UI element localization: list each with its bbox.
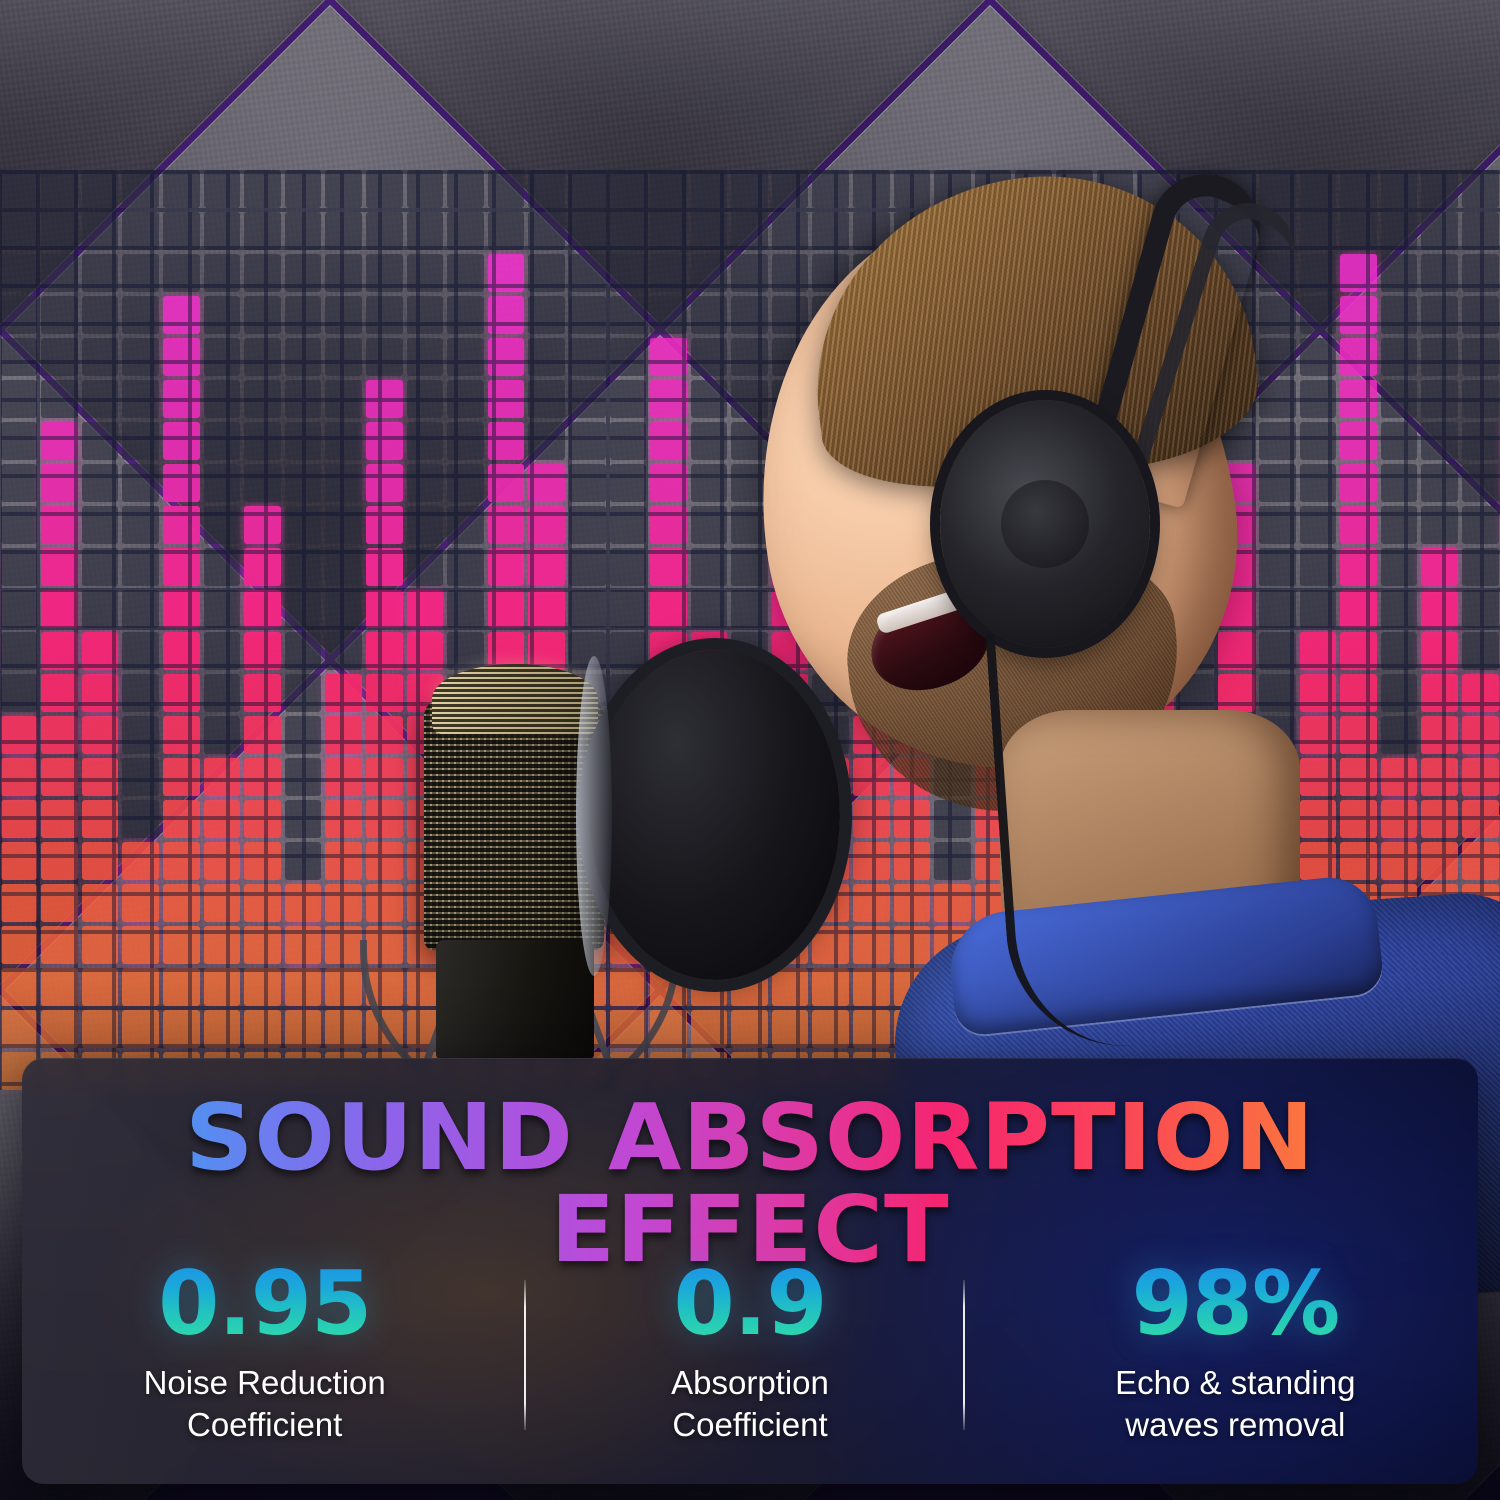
- equalizer-cell: [610, 212, 647, 250]
- equalizer-cell: [82, 464, 119, 502]
- equalizer-cell: [447, 464, 484, 502]
- equalizer-cell: [163, 674, 200, 712]
- equalizer-cell: [610, 506, 647, 544]
- equalizer-cell: [610, 590, 647, 628]
- equalizer-cell: [244, 506, 281, 544]
- pop-filter: [590, 650, 840, 980]
- equalizer-cell: [325, 212, 362, 250]
- equalizer-cell: [163, 212, 200, 250]
- headline-sound-absorption-effect: SOUND ABSORPTION EFFECT: [22, 1092, 1478, 1276]
- stat-caption-line2: waves removal: [1125, 1406, 1345, 1443]
- equalizer-cell: [163, 1010, 200, 1048]
- equalizer-cell: [488, 296, 525, 334]
- equalizer-cell: [610, 464, 647, 502]
- equalizer-cell: [244, 296, 281, 334]
- equalizer-cell: [82, 800, 119, 838]
- equalizer-cell: [407, 296, 444, 334]
- equalizer-cell: [285, 338, 322, 376]
- equalizer-cell: [285, 296, 322, 334]
- equalizer-cell: [244, 548, 281, 586]
- equalizer-cell: [244, 800, 281, 838]
- equalizer-cell: [1, 464, 38, 502]
- equalizer-cell: [650, 170, 687, 208]
- equalizer-cell: [122, 380, 159, 418]
- stat-echo-waves-removal: 98% Echo & standing waves removal: [993, 1258, 1478, 1447]
- equalizer-cell: [285, 212, 322, 250]
- equalizer-cell: [407, 170, 444, 208]
- equalizer-cell: [528, 548, 565, 586]
- equalizer-cell: [650, 548, 687, 586]
- product-marketing-image: SOUND ABSORPTION EFFECT 0.95 Noise Reduc…: [0, 0, 1500, 1500]
- equalizer-cell: [163, 464, 200, 502]
- equalizer-cell: [122, 884, 159, 922]
- equalizer-cell: [163, 632, 200, 670]
- equalizer-cell: [366, 170, 403, 208]
- stat-caption: Absorption Coefficient: [507, 1362, 992, 1448]
- equalizer-cell: [285, 464, 322, 502]
- equalizer-cell: [204, 548, 241, 586]
- equalizer-cell: [41, 338, 78, 376]
- equalizer-cell: [41, 926, 78, 964]
- equalizer-cell: [122, 506, 159, 544]
- equalizer-column: [163, 170, 200, 1090]
- equalizer-cell: [204, 296, 241, 334]
- equalizer-cell: [41, 716, 78, 754]
- equalizer-cell: [285, 422, 322, 460]
- equalizer-cell: [569, 338, 606, 376]
- equalizer-cell: [610, 338, 647, 376]
- equalizer-cell: [650, 506, 687, 544]
- equalizer-cell: [407, 254, 444, 292]
- equalizer-cell: [1, 926, 38, 964]
- equalizer-cell: [285, 590, 322, 628]
- equalizer-cell: [163, 170, 200, 208]
- equalizer-cell: [122, 548, 159, 586]
- equalizer-cell: [407, 464, 444, 502]
- equalizer-cell: [122, 464, 159, 502]
- equalizer-cell: [82, 632, 119, 670]
- equalizer-cell: [569, 506, 606, 544]
- equalizer-cell: [407, 548, 444, 586]
- equalizer-cell: [366, 464, 403, 502]
- equalizer-cell: [204, 716, 241, 754]
- equalizer-cell: [447, 590, 484, 628]
- equalizer-cell: [447, 212, 484, 250]
- stat-divider-right: [963, 1280, 965, 1430]
- equalizer-cell: [488, 422, 525, 460]
- equalizer-cell: [447, 296, 484, 334]
- equalizer-column: [82, 170, 119, 1090]
- equalizer-cell: [163, 842, 200, 880]
- equalizer-cell: [610, 548, 647, 586]
- equalizer-cell: [244, 632, 281, 670]
- equalizer-column: [204, 170, 241, 1090]
- equalizer-cell: [82, 338, 119, 376]
- stat-caption: Echo & standing waves removal: [993, 1362, 1478, 1448]
- equalizer-cell: [447, 548, 484, 586]
- equalizer-cell: [122, 842, 159, 880]
- equalizer-cell: [1, 506, 38, 544]
- equalizer-cell: [204, 422, 241, 460]
- equalizer-cell: [41, 380, 78, 418]
- equalizer-cell: [488, 548, 525, 586]
- equalizer-cell: [41, 632, 78, 670]
- equalizer-cell: [650, 254, 687, 292]
- equalizer-cell: [82, 590, 119, 628]
- equalizer-cell: [610, 380, 647, 418]
- equalizer-cell: [82, 674, 119, 712]
- equalizer-cell: [569, 170, 606, 208]
- equalizer-cell: [163, 926, 200, 964]
- equalizer-cell: [488, 464, 525, 502]
- equalizer-column: [41, 170, 78, 1090]
- equalizer-cell: [488, 338, 525, 376]
- equalizer-cell: [82, 716, 119, 754]
- equalizer-cell: [1, 842, 38, 880]
- equalizer-cell: [82, 506, 119, 544]
- equalizer-cell: [1, 716, 38, 754]
- equalizer-cell: [244, 590, 281, 628]
- equalizer-cell: [122, 254, 159, 292]
- equalizer-cell: [1, 968, 38, 1006]
- equalizer-cell: [204, 674, 241, 712]
- equalizer-cell: [285, 170, 322, 208]
- equalizer-cell: [82, 884, 119, 922]
- equalizer-cell: [163, 968, 200, 1006]
- equalizer-cell: [122, 968, 159, 1006]
- equalizer-cell: [366, 338, 403, 376]
- headphone-earcup: [940, 400, 1150, 648]
- equalizer-cell: [41, 506, 78, 544]
- equalizer-cell: [41, 422, 78, 460]
- equalizer-cell: [366, 422, 403, 460]
- equalizer-cell: [41, 800, 78, 838]
- equalizer-cell: [528, 590, 565, 628]
- equalizer-cell: [325, 254, 362, 292]
- equalizer-cell: [407, 422, 444, 460]
- equalizer-cell: [122, 674, 159, 712]
- equalizer-cell: [1, 884, 38, 922]
- stat-caption-line2: Coefficient: [672, 1406, 827, 1443]
- equalizer-cell: [41, 296, 78, 334]
- equalizer-cell: [204, 842, 241, 880]
- equalizer-cell: [163, 338, 200, 376]
- equalizer-cell: [163, 548, 200, 586]
- equalizer-cell: [244, 674, 281, 712]
- equalizer-cell: [204, 254, 241, 292]
- equalizer-cell: [41, 590, 78, 628]
- equalizer-cell: [244, 422, 281, 460]
- stat-absorption-coefficient: 0.9 Absorption Coefficient: [507, 1258, 992, 1447]
- equalizer-cell: [204, 968, 241, 1006]
- equalizer-cell: [82, 548, 119, 586]
- equalizer-cell: [407, 506, 444, 544]
- equalizer-cell: [569, 212, 606, 250]
- equalizer-cell: [244, 212, 281, 250]
- equalizer-cell: [244, 170, 281, 208]
- stats-row: 0.95 Noise Reduction Coefficient 0.9 Abs…: [22, 1258, 1478, 1468]
- equalizer-cell: [285, 926, 322, 964]
- equalizer-cell: [41, 254, 78, 292]
- equalizer-cell: [204, 590, 241, 628]
- equalizer-cell: [1, 632, 38, 670]
- equalizer-cell: [610, 254, 647, 292]
- equalizer-cell: [285, 968, 322, 1006]
- equalizer-cell: [163, 800, 200, 838]
- equalizer-cell: [285, 674, 322, 712]
- equalizer-cell: [407, 380, 444, 418]
- equalizer-cell: [488, 506, 525, 544]
- equalizer-cell: [366, 254, 403, 292]
- stat-caption-line1: Echo & standing: [1115, 1364, 1355, 1401]
- equalizer-cell: [366, 506, 403, 544]
- equalizer-cell: [325, 338, 362, 376]
- equalizer-cell: [122, 758, 159, 796]
- equalizer-cell: [244, 254, 281, 292]
- equalizer-cell: [1, 674, 38, 712]
- equalizer-cell: [1, 422, 38, 460]
- equalizer-cell: [285, 380, 322, 418]
- equalizer-cell: [366, 548, 403, 586]
- equalizer-cell: [447, 380, 484, 418]
- equalizer-cell: [204, 380, 241, 418]
- equalizer-cell: [163, 254, 200, 292]
- equalizer-cell: [528, 170, 565, 208]
- equalizer-cell: [122, 422, 159, 460]
- equalizer-cell: [569, 422, 606, 460]
- equalizer-cell: [82, 296, 119, 334]
- equalizer-cell: [285, 842, 322, 880]
- equalizer-cell: [122, 170, 159, 208]
- equalizer-cell: [41, 170, 78, 208]
- equalizer-cell: [528, 338, 565, 376]
- equalizer-cell: [325, 380, 362, 418]
- equalizer-cell: [204, 632, 241, 670]
- equalizer-cell: [285, 758, 322, 796]
- equalizer-cell: [650, 590, 687, 628]
- stat-noise-reduction-coefficient: 0.95 Noise Reduction Coefficient: [22, 1258, 507, 1447]
- equalizer-cell: [488, 380, 525, 418]
- equalizer-cell: [407, 338, 444, 376]
- equalizer-cell: [285, 548, 322, 586]
- equalizer-cell: [82, 170, 119, 208]
- equalizer-cell: [41, 842, 78, 880]
- stat-value: 0.9: [507, 1258, 992, 1350]
- equalizer-cell: [285, 632, 322, 670]
- equalizer-cell: [285, 884, 322, 922]
- equalizer-cell: [244, 380, 281, 418]
- equalizer-cell: [244, 338, 281, 376]
- equalizer-cell: [244, 716, 281, 754]
- equalizer-cell: [122, 338, 159, 376]
- equalizer-cell: [528, 296, 565, 334]
- equalizer-cell: [447, 338, 484, 376]
- equalizer-cell: [204, 506, 241, 544]
- equalizer-cell: [244, 968, 281, 1006]
- equalizer-cell: [447, 422, 484, 460]
- equalizer-cell: [407, 590, 444, 628]
- equalizer-cell: [569, 296, 606, 334]
- equalizer-cell: [569, 590, 606, 628]
- equalizer-cell: [1, 548, 38, 586]
- equalizer-column: [1, 170, 38, 1090]
- equalizer-cell: [610, 296, 647, 334]
- equalizer-cell: [528, 422, 565, 460]
- equalizer-cell: [488, 590, 525, 628]
- equalizer-cell: [528, 380, 565, 418]
- equalizer-cell: [163, 590, 200, 628]
- equalizer-cell: [41, 1010, 78, 1048]
- stat-caption-line1: Noise Reduction: [144, 1364, 386, 1401]
- equalizer-cell: [1, 212, 38, 250]
- equalizer-cell: [325, 506, 362, 544]
- equalizer-cell: [204, 758, 241, 796]
- equalizer-cell: [82, 1010, 119, 1048]
- microphone-capsule-grille: [432, 664, 598, 734]
- equalizer-cell: [1, 1010, 38, 1048]
- equalizer-column: [285, 170, 322, 1090]
- equalizer-cell: [82, 380, 119, 418]
- stat-caption: Noise Reduction Coefficient: [22, 1362, 507, 1448]
- equalizer-cell: [569, 254, 606, 292]
- equalizer-cell: [244, 1010, 281, 1048]
- equalizer-cell: [325, 590, 362, 628]
- equalizer-cell: [204, 884, 241, 922]
- equalizer-cell: [325, 422, 362, 460]
- equalizer-cell: [163, 758, 200, 796]
- equalizer-cell: [610, 422, 647, 460]
- equalizer-cell: [163, 506, 200, 544]
- equalizer-cell: [528, 212, 565, 250]
- equalizer-cell: [204, 170, 241, 208]
- equalizer-cell: [447, 254, 484, 292]
- equalizer-cell: [41, 674, 78, 712]
- equalizer-cell: [447, 170, 484, 208]
- equalizer-cell: [285, 1010, 322, 1048]
- stat-value: 98%: [993, 1258, 1478, 1350]
- equalizer-cell: [41, 758, 78, 796]
- equalizer-cell: [1, 170, 38, 208]
- equalizer-cell: [285, 506, 322, 544]
- equalizer-cell: [325, 170, 362, 208]
- stat-value: 0.95: [22, 1258, 507, 1350]
- equalizer-cell: [122, 632, 159, 670]
- equalizer-cell: [285, 716, 322, 754]
- equalizer-cell: [1, 296, 38, 334]
- equalizer-cell: [488, 212, 525, 250]
- microphone-assembly: [320, 640, 880, 1120]
- equalizer-cell: [1, 254, 38, 292]
- equalizer-cell: [163, 884, 200, 922]
- equalizer-cell: [82, 758, 119, 796]
- equalizer-cell: [163, 296, 200, 334]
- equalizer-cell: [488, 170, 525, 208]
- equalizer-cell: [82, 842, 119, 880]
- equalizer-cell: [122, 1010, 159, 1048]
- equalizer-cell: [163, 716, 200, 754]
- equalizer-cell: [569, 464, 606, 502]
- equalizer-cell: [325, 464, 362, 502]
- stat-caption-line2: Coefficient: [187, 1406, 342, 1443]
- equalizer-cell: [650, 296, 687, 334]
- equalizer-cell: [41, 464, 78, 502]
- equalizer-cell: [447, 506, 484, 544]
- equalizer-cell: [204, 926, 241, 964]
- equalizer-cell: [82, 254, 119, 292]
- equalizer-cell: [650, 338, 687, 376]
- equalizer-cell: [1, 338, 38, 376]
- equalizer-cell: [569, 380, 606, 418]
- equalizer-cell: [163, 380, 200, 418]
- equalizer-cell: [122, 590, 159, 628]
- equalizer-cell: [528, 464, 565, 502]
- equalizer-cell: [650, 422, 687, 460]
- equalizer-cell: [41, 884, 78, 922]
- equalizer-cell: [528, 254, 565, 292]
- equalizer-cell: [122, 926, 159, 964]
- equalizer-cell: [204, 338, 241, 376]
- equalizer-cell: [122, 800, 159, 838]
- equalizer-cell: [82, 212, 119, 250]
- equalizer-cell: [122, 212, 159, 250]
- equalizer-cell: [204, 464, 241, 502]
- equalizer-cell: [244, 464, 281, 502]
- stat-divider-left: [524, 1280, 526, 1430]
- equalizer-cell: [610, 170, 647, 208]
- equalizer-cell: [244, 884, 281, 922]
- equalizer-cell: [204, 1010, 241, 1048]
- equalizer-cell: [244, 842, 281, 880]
- equalizer-cell: [285, 800, 322, 838]
- equalizer-cell: [569, 548, 606, 586]
- equalizer-cell: [407, 212, 444, 250]
- equalizer-cell: [204, 212, 241, 250]
- equalizer-cell: [204, 800, 241, 838]
- equalizer-cell: [41, 548, 78, 586]
- equalizer-column: [244, 170, 281, 1090]
- equalizer-cell: [325, 548, 362, 586]
- equalizer-cell: [163, 422, 200, 460]
- equalizer-column: [122, 170, 159, 1090]
- equalizer-cell: [41, 968, 78, 1006]
- equalizer-cell: [650, 464, 687, 502]
- equalizer-cell: [1, 758, 38, 796]
- equalizer-cell: [325, 296, 362, 334]
- equalizer-cell: [285, 254, 322, 292]
- equalizer-cell: [244, 758, 281, 796]
- equalizer-cell: [366, 296, 403, 334]
- microphone-base: [436, 940, 594, 1060]
- info-panel: SOUND ABSORPTION EFFECT 0.95 Noise Reduc…: [22, 1058, 1478, 1484]
- equalizer-cell: [1, 380, 38, 418]
- equalizer-cell: [244, 926, 281, 964]
- equalizer-cell: [82, 422, 119, 460]
- equalizer-cell: [366, 212, 403, 250]
- equalizer-cell: [488, 254, 525, 292]
- equalizer-cell: [122, 296, 159, 334]
- equalizer-cell: [82, 968, 119, 1006]
- equalizer-cell: [366, 590, 403, 628]
- equalizer-cell: [650, 380, 687, 418]
- equalizer-cell: [528, 506, 565, 544]
- equalizer-cell: [650, 212, 687, 250]
- equalizer-cell: [82, 926, 119, 964]
- equalizer-cell: [41, 212, 78, 250]
- equalizer-cell: [366, 380, 403, 418]
- equalizer-cell: [1, 800, 38, 838]
- stat-caption-line1: Absorption: [671, 1364, 829, 1401]
- equalizer-cell: [122, 716, 159, 754]
